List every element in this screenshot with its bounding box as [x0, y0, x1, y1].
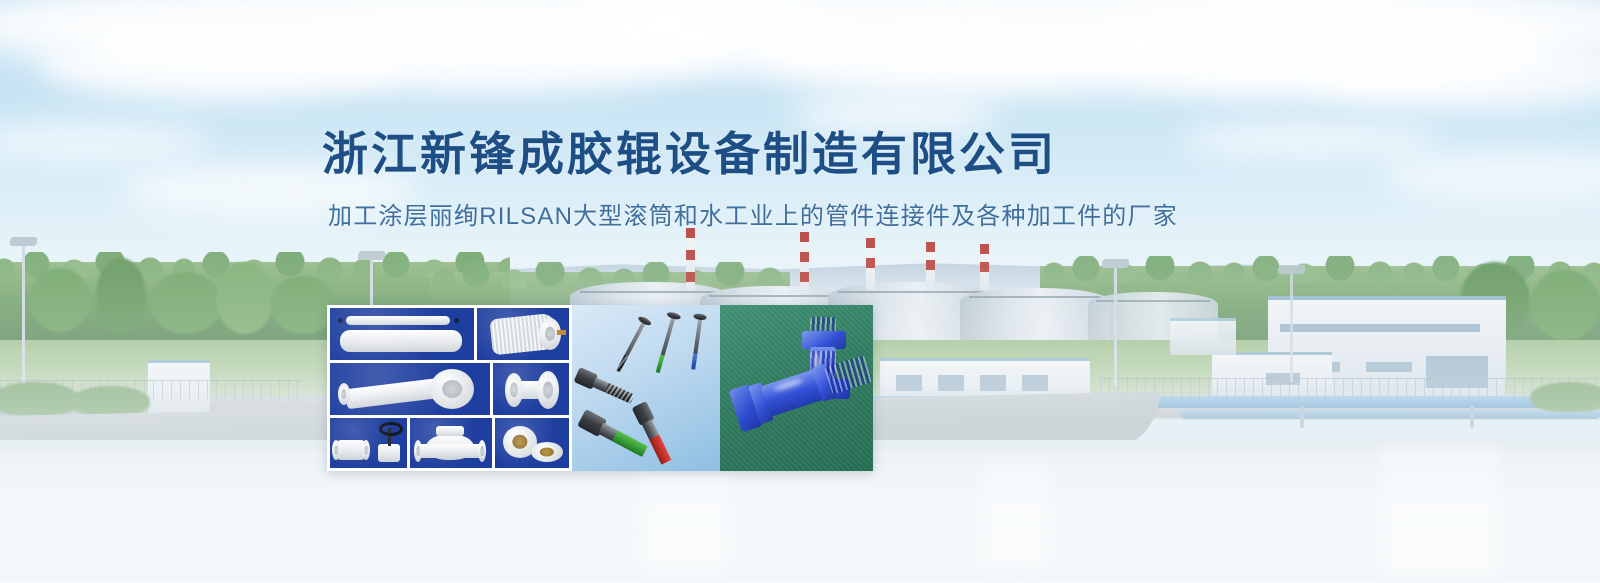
blue-pipe-rack: [1180, 410, 1600, 419]
cell-flange-gasket-set: [495, 418, 569, 468]
water-reflection: [1380, 448, 1500, 578]
lamp-post: [1290, 272, 1293, 382]
tree: [1530, 270, 1600, 340]
shrub: [0, 382, 80, 416]
shrub: [1530, 382, 1600, 412]
smokestack: [926, 242, 935, 290]
banner-copy: 浙江新锋成胶辊设备制造有限公司 加工涂层丽绚RILSAN大型滚筒和水工业上的管件…: [322, 126, 1422, 233]
smokestack: [686, 228, 695, 290]
cell-flanged-bushing: [493, 363, 569, 415]
steel-bolts-panel: [572, 305, 720, 471]
shrub: [70, 386, 150, 416]
tree: [216, 262, 274, 334]
product-showcase-collage[interactable]: [327, 305, 873, 471]
page-subtitle: 加工涂层丽绚RILSAN大型滚筒和水工业上的管件连接件及各种加工件的厂家: [328, 200, 1422, 234]
smokestack: [866, 238, 875, 290]
plant-shed: [1170, 318, 1236, 355]
cell-strainer-gate-valve: [330, 418, 407, 468]
tree: [96, 258, 146, 334]
cell-check-valve: [410, 418, 491, 468]
hero-banner: 浙江新锋成胶辊设备制造有限公司 加工涂层丽绚RILSAN大型滚筒和水工业上的管件…: [0, 0, 1600, 583]
coated-parts-grid-panel: [327, 305, 572, 471]
tree: [150, 272, 222, 334]
smokestack: [800, 232, 809, 290]
cell-filter-drum: [477, 308, 569, 360]
cloud: [300, 10, 720, 90]
pipe-support: [1470, 406, 1474, 428]
water-shimmer: [0, 455, 1600, 583]
water-reflection: [980, 460, 1050, 570]
cell-lined-pipe-spool: [330, 363, 490, 415]
page-title: 浙江新锋成胶辊设备制造有限公司: [322, 126, 1422, 184]
tree: [30, 268, 90, 332]
smokestack: [980, 244, 989, 290]
perimeter-fence: [1100, 378, 1600, 399]
blue-coated-bolts-panel: [720, 305, 873, 471]
cell-coated-roller: [330, 308, 474, 360]
lamp-post: [1114, 266, 1117, 386]
pipe-support: [1300, 406, 1304, 428]
